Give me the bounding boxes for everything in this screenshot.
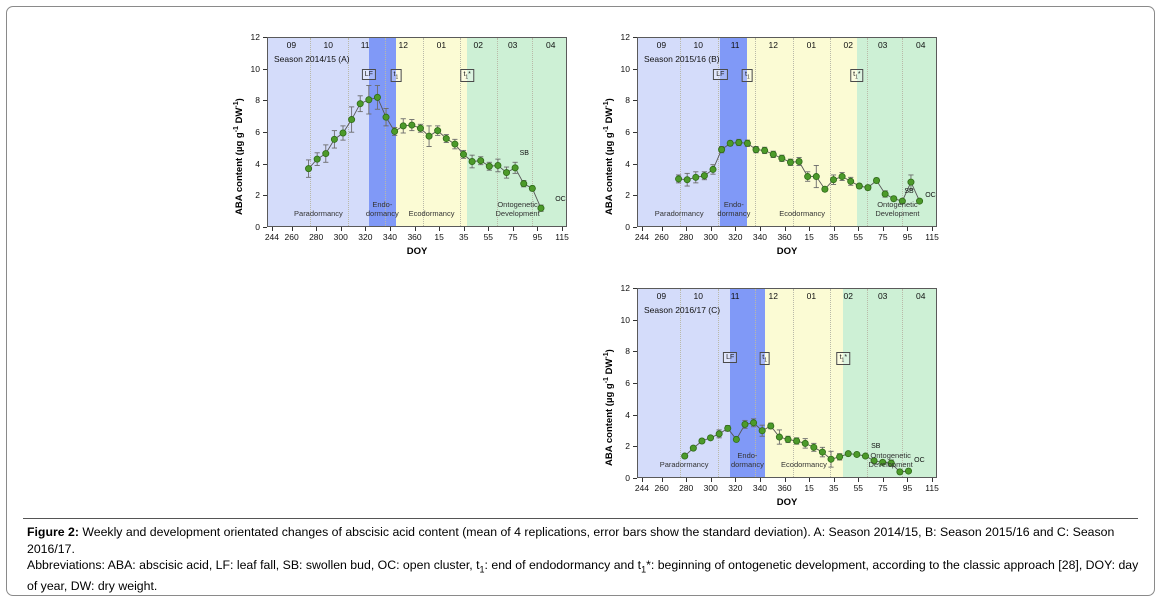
xtick-mark-300 xyxy=(711,227,712,231)
data-point xyxy=(811,444,817,450)
figure-frame: 0910111201020304Season 2014/15 (A)Parado… xyxy=(6,6,1155,596)
xtick-mark-35 xyxy=(834,478,835,482)
ytick-mark-6 xyxy=(633,383,637,384)
ytick-mark-8 xyxy=(633,351,637,352)
data-point xyxy=(742,421,748,427)
ytick-mark-0 xyxy=(633,478,637,479)
ytick-mark-10 xyxy=(263,69,267,70)
data-point xyxy=(725,425,731,431)
xtick-label-35: 35 xyxy=(459,232,468,242)
data-point xyxy=(366,97,372,103)
month-label-12: 12 xyxy=(769,291,778,301)
xtick-mark-35 xyxy=(464,227,465,231)
data-point xyxy=(512,165,518,171)
xtick-mark-260 xyxy=(662,478,663,482)
xtick-mark-320 xyxy=(365,227,366,231)
ytick-mark-0 xyxy=(263,227,267,228)
data-point xyxy=(839,173,845,179)
data-series-a xyxy=(268,38,567,227)
stage-label-ontogenetic: OntogeneticDevelopment xyxy=(495,201,539,218)
month-label-03: 03 xyxy=(878,40,887,50)
ytick-mark-8 xyxy=(633,100,637,101)
plot-area-b: 0910111201020304Season 2015/16 (B)Parado… xyxy=(637,37,937,227)
xtick-label-260: 260 xyxy=(284,232,298,242)
data-point xyxy=(392,128,398,134)
xtick-mark-95 xyxy=(907,478,908,482)
xtick-label-35: 35 xyxy=(829,483,838,493)
xtick-label-340: 340 xyxy=(753,232,767,242)
data-point xyxy=(409,122,415,128)
data-point xyxy=(675,176,681,182)
xtick-label-75: 75 xyxy=(878,232,887,242)
chart-panel-c: 0910111201020304Season 2016/17 (C)Parado… xyxy=(595,272,955,520)
ytick-mark-12 xyxy=(263,37,267,38)
data-point xyxy=(762,147,768,153)
xtick-mark-320 xyxy=(735,478,736,482)
data-point xyxy=(684,177,690,183)
data-point xyxy=(822,186,828,192)
xtick-mark-15 xyxy=(439,227,440,231)
month-label-10: 10 xyxy=(694,40,703,50)
data-point xyxy=(759,428,765,434)
month-label-03: 03 xyxy=(878,291,887,301)
ytick-mark-12 xyxy=(633,37,637,38)
ytick-mark-12 xyxy=(633,288,637,289)
caption-divider xyxy=(23,518,1138,519)
data-point xyxy=(796,158,802,164)
month-label-04: 04 xyxy=(546,40,555,50)
xtick-mark-244 xyxy=(272,227,273,231)
ytick-label-10: 10 xyxy=(237,64,260,74)
data-point xyxy=(435,128,441,134)
xtick-label-300: 300 xyxy=(704,483,718,493)
event-box-t1star: t1* xyxy=(850,69,863,82)
caption-text-main: Weekly and development orientated change… xyxy=(27,525,1114,556)
ytick-label-12: 12 xyxy=(237,32,260,42)
event-box-t1: t1 xyxy=(390,69,401,82)
ytick-label-0: 0 xyxy=(607,222,630,232)
xtick-mark-75 xyxy=(513,227,514,231)
xtick-mark-340 xyxy=(760,227,761,231)
ytick-mark-6 xyxy=(263,132,267,133)
xtick-mark-15 xyxy=(809,478,810,482)
xtick-mark-95 xyxy=(907,227,908,231)
data-point xyxy=(323,150,329,156)
stage-label-endodormancy: Endo-dormancy xyxy=(366,201,399,218)
xtick-label-55: 55 xyxy=(854,232,863,242)
caption-line-2: Abbreviations: ABA: abscisic acid, LF: l… xyxy=(27,557,1145,595)
data-point xyxy=(744,140,750,146)
xtick-mark-95 xyxy=(537,227,538,231)
data-point xyxy=(340,130,346,136)
xtick-label-75: 75 xyxy=(878,483,887,493)
chart-panel-b: 0910111201020304Season 2015/16 (B)Parado… xyxy=(595,21,955,269)
data-point xyxy=(873,177,879,183)
data-point xyxy=(753,147,759,153)
data-point xyxy=(710,166,716,172)
xtick-label-340: 340 xyxy=(383,232,397,242)
data-point xyxy=(357,101,363,107)
xtick-mark-260 xyxy=(662,227,663,231)
x-axis-title: DOY xyxy=(777,497,798,508)
xtick-label-244: 244 xyxy=(265,232,279,242)
caption-abbrev-label: Abbreviations: xyxy=(27,558,105,572)
data-point xyxy=(813,173,819,179)
xtick-label-300: 300 xyxy=(704,232,718,242)
xtick-label-300: 300 xyxy=(334,232,348,242)
ytick-mark-0 xyxy=(633,227,637,228)
xtick-mark-75 xyxy=(883,227,884,231)
xtick-mark-75 xyxy=(883,478,884,482)
xtick-mark-115 xyxy=(932,227,933,231)
data-point xyxy=(305,166,311,172)
ytick-label-0: 0 xyxy=(237,222,260,232)
ytick-mark-4 xyxy=(263,164,267,165)
xtick-label-320: 320 xyxy=(728,232,742,242)
data-point xyxy=(770,151,776,157)
month-label-10: 10 xyxy=(694,291,703,301)
ytick-mark-2 xyxy=(633,446,637,447)
event-box-t1star: t1* xyxy=(460,69,473,82)
annotation-sb: SB xyxy=(520,150,529,157)
chart-panel-a: 0910111201020304Season 2014/15 (A)Parado… xyxy=(225,21,585,269)
season-title-a: Season 2014/15 (A) xyxy=(274,54,350,64)
xtick-label-95: 95 xyxy=(903,483,912,493)
event-box-LF: LF xyxy=(362,69,376,80)
stage-label-ecodormancy: Ecodormancy xyxy=(779,210,825,218)
month-label-02: 02 xyxy=(844,291,853,301)
xtick-mark-300 xyxy=(711,478,712,482)
x-axis-title: DOY xyxy=(407,246,428,257)
event-box-LF: LF xyxy=(713,69,727,80)
stage-label-ontogenetic: OntogeneticDevelopment xyxy=(875,201,919,218)
month-label-01: 01 xyxy=(437,40,446,50)
xtick-label-55: 55 xyxy=(484,232,493,242)
month-label-02: 02 xyxy=(844,40,853,50)
data-point xyxy=(787,159,793,165)
xtick-label-320: 320 xyxy=(728,483,742,493)
month-label-04: 04 xyxy=(916,40,925,50)
plot-area-a: 0910111201020304Season 2014/15 (A)Parado… xyxy=(267,37,567,227)
figure-caption: Figure 2: Weekly and development orienta… xyxy=(27,524,1145,595)
stage-label-paradormancy: Paradormancy xyxy=(660,461,709,469)
xtick-mark-55 xyxy=(858,478,859,482)
xtick-mark-115 xyxy=(932,478,933,482)
data-point xyxy=(776,434,782,440)
stage-label-endodormancy: Endo-dormancy xyxy=(717,201,750,218)
xtick-mark-55 xyxy=(488,227,489,231)
annotation-oc: OC xyxy=(914,457,925,464)
xtick-mark-320 xyxy=(735,227,736,231)
data-point xyxy=(486,163,492,169)
xtick-label-244: 244 xyxy=(635,483,649,493)
data-point xyxy=(736,139,742,145)
xtick-mark-244 xyxy=(642,478,643,482)
stage-label-ecodormancy: Ecodormancy xyxy=(409,210,455,218)
season-title-b: Season 2015/16 (B) xyxy=(644,54,720,64)
month-label-01: 01 xyxy=(807,40,816,50)
month-label-03: 03 xyxy=(508,40,517,50)
xtick-mark-360 xyxy=(415,227,416,231)
xtick-mark-360 xyxy=(785,227,786,231)
xtick-mark-244 xyxy=(642,227,643,231)
ytick-mark-8 xyxy=(263,100,267,101)
data-point xyxy=(856,183,862,189)
data-point xyxy=(897,469,903,475)
data-point xyxy=(521,181,527,187)
xtick-label-75: 75 xyxy=(508,232,517,242)
xtick-mark-280 xyxy=(316,227,317,231)
xtick-mark-280 xyxy=(686,478,687,482)
xtick-mark-340 xyxy=(760,478,761,482)
xtick-mark-15 xyxy=(809,227,810,231)
data-point xyxy=(682,453,688,459)
month-label-12: 12 xyxy=(769,40,778,50)
xtick-mark-35 xyxy=(834,227,835,231)
xtick-label-260: 260 xyxy=(654,483,668,493)
data-point xyxy=(908,179,914,185)
data-point xyxy=(707,435,713,441)
month-label-11: 11 xyxy=(731,291,740,301)
xtick-label-115: 115 xyxy=(925,232,939,242)
data-point xyxy=(495,162,501,168)
xtick-label-15: 15 xyxy=(804,483,813,493)
data-point xyxy=(794,438,800,444)
data-point xyxy=(452,141,458,147)
data-point xyxy=(426,133,432,139)
data-point xyxy=(882,191,888,197)
xtick-label-95: 95 xyxy=(533,232,542,242)
data-point xyxy=(719,147,725,153)
data-point xyxy=(750,420,756,426)
data-point xyxy=(716,431,722,437)
month-label-04: 04 xyxy=(916,291,925,301)
month-label-01: 01 xyxy=(807,291,816,301)
data-point xyxy=(331,136,337,142)
xtick-label-360: 360 xyxy=(777,483,791,493)
ytick-label-12: 12 xyxy=(607,32,630,42)
ytick-label-10: 10 xyxy=(607,64,630,74)
month-label-11: 11 xyxy=(731,40,740,50)
xtick-label-15: 15 xyxy=(804,232,813,242)
ytick-mark-6 xyxy=(633,132,637,133)
y-axis-title: ABA content (µg g-1 DW-1) xyxy=(233,98,245,215)
stage-label-ecodormancy: Ecodormancy xyxy=(781,461,827,469)
xtick-mark-340 xyxy=(390,227,391,231)
data-point xyxy=(819,449,825,455)
data-point xyxy=(848,178,854,184)
data-point xyxy=(802,440,808,446)
data-point xyxy=(478,158,484,164)
month-label-10: 10 xyxy=(324,40,333,50)
data-point xyxy=(443,135,449,141)
month-label-11: 11 xyxy=(361,40,370,50)
stage-label-paradormancy: Paradormancy xyxy=(294,210,343,218)
data-point xyxy=(400,123,406,129)
event-box-t1star: t1* xyxy=(837,352,850,365)
xtick-label-35: 35 xyxy=(829,232,838,242)
data-point xyxy=(828,456,834,462)
month-label-09: 09 xyxy=(657,291,666,301)
caption-abbrev-a: ABA: abscisic acid, LF: leaf fall, SB: s… xyxy=(105,558,480,572)
data-point xyxy=(805,173,811,179)
data-point xyxy=(699,438,705,444)
data-point xyxy=(854,451,860,457)
data-series-b xyxy=(638,38,937,227)
data-point xyxy=(693,174,699,180)
xtick-mark-55 xyxy=(858,227,859,231)
ytick-mark-2 xyxy=(633,195,637,196)
xtick-label-280: 280 xyxy=(679,483,693,493)
xtick-mark-360 xyxy=(785,478,786,482)
data-point xyxy=(349,116,355,122)
data-point xyxy=(768,423,774,429)
caption-figure-label: Figure 2: xyxy=(27,525,79,539)
series-line xyxy=(309,97,541,208)
data-point xyxy=(785,436,791,442)
ytick-mark-4 xyxy=(633,164,637,165)
event-box-t1: t1 xyxy=(742,69,753,82)
xtick-label-360: 360 xyxy=(407,232,421,242)
xtick-label-340: 340 xyxy=(753,483,767,493)
data-point xyxy=(690,445,696,451)
ytick-mark-10 xyxy=(633,69,637,70)
xtick-label-360: 360 xyxy=(777,232,791,242)
data-point xyxy=(374,94,380,100)
data-point xyxy=(701,173,707,179)
y-axis-title: ABA content (µg g-1 DW-1) xyxy=(603,98,615,215)
data-series-c xyxy=(638,289,937,478)
annotation-sb: SB xyxy=(871,443,880,450)
month-label-09: 09 xyxy=(657,40,666,50)
ytick-mark-4 xyxy=(633,415,637,416)
xtick-mark-260 xyxy=(292,227,293,231)
month-label-02: 02 xyxy=(474,40,483,50)
ytick-label-0: 0 xyxy=(607,473,630,483)
annotation-sb: SB xyxy=(904,188,913,195)
data-point xyxy=(314,156,320,162)
annotation-oc: OC xyxy=(925,192,936,199)
xtick-label-280: 280 xyxy=(679,232,693,242)
data-point xyxy=(830,177,836,183)
xtick-mark-280 xyxy=(686,227,687,231)
data-point xyxy=(727,140,733,146)
xtick-label-95: 95 xyxy=(903,232,912,242)
xtick-mark-300 xyxy=(341,227,342,231)
xtick-label-115: 115 xyxy=(925,483,939,493)
data-point xyxy=(469,158,475,164)
data-point xyxy=(417,125,423,131)
season-title-c: Season 2016/17 (C) xyxy=(644,305,720,315)
data-point xyxy=(779,155,785,161)
data-point xyxy=(529,185,535,191)
xtick-label-115: 115 xyxy=(555,232,569,242)
plot-area-c: 0910111201020304Season 2016/17 (C)Parado… xyxy=(637,288,937,478)
data-point xyxy=(383,114,389,120)
stage-label-endodormancy: Endo-dormancy xyxy=(731,452,764,469)
xtick-label-280: 280 xyxy=(309,232,323,242)
caption-abbrev-b: : end of endodormancy and t xyxy=(485,558,642,572)
data-point xyxy=(460,151,466,157)
ytick-mark-2 xyxy=(263,195,267,196)
stage-label-paradormancy: Paradormancy xyxy=(655,210,704,218)
stage-label-ontogenetic: OntogeneticDevelopment xyxy=(869,452,913,469)
event-box-t1: t1 xyxy=(759,352,770,365)
xtick-label-15: 15 xyxy=(434,232,443,242)
ytick-mark-10 xyxy=(633,320,637,321)
caption-line-1: Figure 2: Weekly and development orienta… xyxy=(27,524,1145,557)
ytick-label-10: 10 xyxy=(607,315,630,325)
event-box-LF: LF xyxy=(723,352,737,363)
month-label-12: 12 xyxy=(399,40,408,50)
data-point xyxy=(503,169,509,175)
data-point xyxy=(865,185,871,191)
xtick-label-260: 260 xyxy=(654,232,668,242)
xtick-mark-115 xyxy=(562,227,563,231)
ytick-label-12: 12 xyxy=(607,283,630,293)
annotation-oc: OC xyxy=(555,196,566,203)
xtick-label-55: 55 xyxy=(854,483,863,493)
y-axis-title: ABA content (µg g-1 DW-1) xyxy=(603,349,615,466)
xtick-label-320: 320 xyxy=(358,232,372,242)
data-point xyxy=(837,454,843,460)
data-point xyxy=(845,451,851,457)
xtick-label-244: 244 xyxy=(635,232,649,242)
data-point xyxy=(733,436,739,442)
month-label-09: 09 xyxy=(287,40,296,50)
x-axis-title: DOY xyxy=(777,246,798,257)
